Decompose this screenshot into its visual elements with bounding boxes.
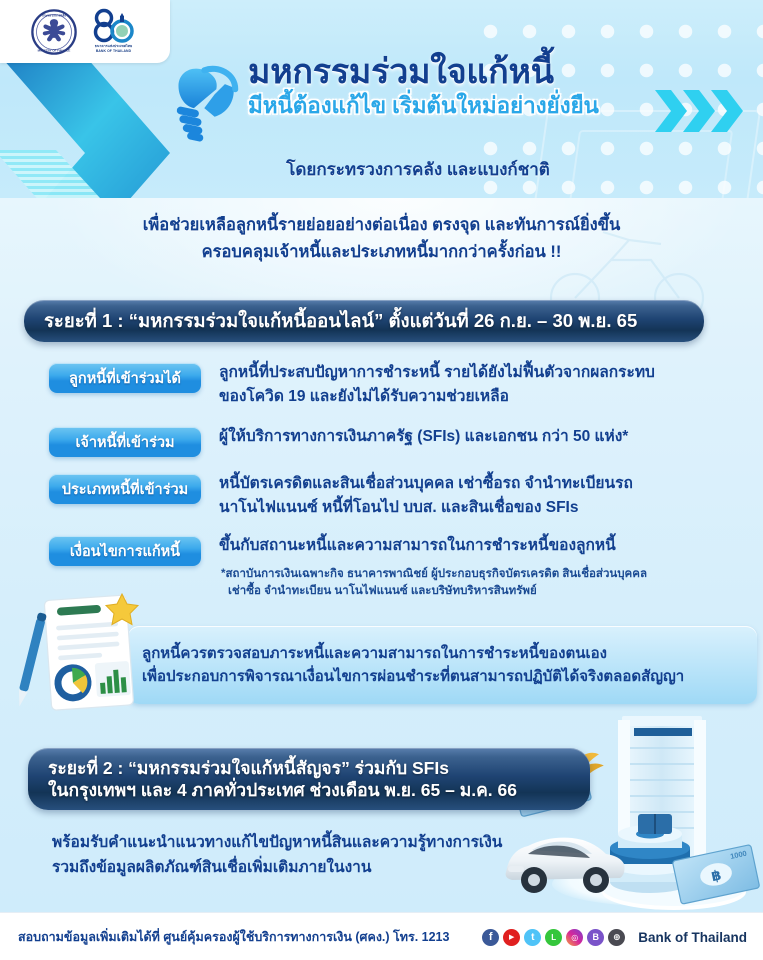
phase2-banner-text: ระยะที่ 2 : “มหกรรมร่วมใจแก้หนี้สัญจร” ร… bbox=[48, 757, 517, 802]
header-banner: กระทรวงการคลัง MINISTRY OF FINANCE ธนาคา… bbox=[0, 0, 763, 198]
organized-by-text: โดยกระทรวงการคลัง และแบงก์ชาติ bbox=[208, 156, 628, 183]
phase1-detail-rows: ลูกหนี้ที่เข้าร่วมได้ ลูกหนี้ที่ประสบปัญ… bbox=[0, 360, 763, 571]
bank-of-thailand-80th-logo: ธนาคารแห่งประเทศไทย BANK OF THAILAND bbox=[88, 7, 140, 57]
youtube-icon[interactable]: ▶ bbox=[503, 929, 520, 946]
advice-line-2: เพื่อประกอบการพิจารณาเงื่อนไขการผ่อนชำระ… bbox=[142, 665, 757, 688]
row-value-line-1: ขึ้นกับสถานะหนี้และความสามารถในการชำระหน… bbox=[219, 534, 745, 558]
svg-text:กระทรวงการคลัง: กระทรวงการคลัง bbox=[42, 12, 66, 17]
page-subtitle: มีหนี้ต้องแก้ไข เริ่มต้นใหม่อย่างยั่งยืน bbox=[248, 93, 599, 120]
row-label-relief-conditions: เงื่อนไขการแก้หนี้ bbox=[49, 536, 201, 566]
footnote-line-2: เช่าซื้อ จำนำทะเบียน นาโนไฟแนนซ์ และบริษ… bbox=[221, 583, 741, 600]
line-icon[interactable]: L bbox=[545, 929, 562, 946]
row-value: ลูกหนี้ที่ประสบปัญหาการชำระหนี้ รายได้ยั… bbox=[219, 360, 745, 408]
row-value: ขึ้นกับสถานะหนี้และความสามารถในการชำระหน… bbox=[219, 533, 745, 558]
header-title-block: มหกรรมร่วมใจแก้หนี้ มีหนี้ต้องแก้ไข เริ่… bbox=[248, 54, 668, 119]
bot-logo-caption-th: ธนาคารแห่งประเทศไทย bbox=[95, 44, 132, 48]
social-links: f ▶ t L ◎ B ⊕ Bank of Thailand bbox=[482, 929, 747, 946]
infographic-page: กระทรวงการคลัง MINISTRY OF FINANCE ธนาคา… bbox=[0, 0, 763, 960]
row-value-line-1: หนี้บัตรเครดิตและสินเชื่อส่วนบุคคล เช่าซ… bbox=[219, 472, 745, 496]
footer-contact-text: สอบถามข้อมูลเพิ่มเติมได้ที่ ศูนย์คุ้มครอ… bbox=[18, 927, 449, 947]
row-label-eligible-debtors: ลูกหนี้ที่เข้าร่วมได้ bbox=[49, 363, 201, 393]
table-row: ลูกหนี้ที่เข้าร่วมได้ ลูกหนี้ที่ประสบปัญ… bbox=[0, 360, 763, 408]
row-label-debt-types: ประเภทหนี้ที่เข้าร่วม bbox=[49, 474, 201, 504]
pill-label: เงื่อนไขการแก้หนี้ bbox=[70, 540, 180, 563]
phase2-banner: ระยะที่ 2 : “มหกรรมร่วมใจแก้หนี้สัญจร” ร… bbox=[28, 748, 590, 810]
phase2-banner-line-2: ในกรุงเทพฯ และ 4 ภาคทั่วประเทศ ช่วงเดือน… bbox=[48, 779, 517, 801]
row-value: หนี้บัตรเครดิตและสินเชื่อส่วนบุคคล เช่าซ… bbox=[219, 471, 745, 519]
svg-text:MINISTRY OF FINANCE: MINISTRY OF FINANCE bbox=[37, 48, 70, 52]
organization-name: Bank of Thailand bbox=[638, 930, 747, 945]
row-value-line-1: ลูกหนี้ที่ประสบปัญหาการชำระหนี้ รายได้ยั… bbox=[219, 361, 745, 385]
handshake-icon bbox=[163, 60, 249, 146]
ministry-of-finance-logo: กระทรวงการคลัง MINISTRY OF FINANCE bbox=[31, 9, 77, 55]
facebook-icon[interactable]: f bbox=[482, 929, 499, 946]
phase1-banner: ระยะที่ 1 : “มหกรรมร่วมใจแก้หนี้ออนไลน์”… bbox=[24, 300, 704, 342]
table-row: เงื่อนไขการแก้หนี้ ขึ้นกับสถานะหนี้และคว… bbox=[0, 533, 763, 566]
phase2-desc-line-1: พร้อมรับคำแนะนำแนวทางแก้ไขปัญหาหนี้สินแล… bbox=[52, 830, 522, 855]
car-coins-banknote-building-icon: ฿ 1000 ฿ 1000 bbox=[498, 714, 763, 912]
website-icon[interactable]: ⊕ bbox=[608, 929, 625, 946]
twitter-icon[interactable]: t bbox=[524, 929, 541, 946]
phase2-desc-line-2: รวมถึงข้อมูลผลิตภัณฑ์สินเชื่อเพิ่มเติมภา… bbox=[52, 855, 522, 880]
intro-line-2: ครอบคลุมเจ้าหนี้และประเภทหนี้มากกว่าครั้… bbox=[0, 239, 763, 266]
pill-label: ลูกหนี้ที่เข้าร่วมได้ bbox=[69, 367, 181, 390]
intro-text: เพื่อช่วยเหลือลูกหนี้รายย่อยอย่างต่อเนื่… bbox=[0, 212, 763, 265]
blockdit-icon[interactable]: B bbox=[587, 929, 604, 946]
advice-line-1: ลูกหนี้ควรตรวจสอบภาระหนี้และความสามารถใน… bbox=[142, 642, 757, 665]
logo-card: กระทรวงการคลัง MINISTRY OF FINANCE ธนาคา… bbox=[0, 0, 170, 63]
footnote: *สถาบันการเงินเฉพาะกิจ ธนาคารพาณิชย์ ผู้… bbox=[221, 566, 741, 601]
footnote-line-1: *สถาบันการเงินเฉพาะกิจ ธนาคารพาณิชย์ ผู้… bbox=[221, 568, 647, 580]
pill-label: เจ้าหนี้ที่เข้าร่วม bbox=[75, 431, 174, 454]
footer: สอบถามข้อมูลเพิ่มเติมได้ที่ ศูนย์คุ้มครอ… bbox=[0, 912, 763, 960]
phase1-banner-text: ระยะที่ 1 : “มหกรรมร่วมใจแก้หนี้ออนไลน์”… bbox=[44, 309, 637, 333]
striped-chevron-decoration bbox=[0, 150, 124, 198]
row-value-line-2: ของโควิด 19 และยังไม่ได้รับความช่วยเหลือ bbox=[219, 385, 745, 409]
row-value-line-1: ผู้ให้บริการทางการเงินภาครัฐ (SFIs) และเ… bbox=[219, 425, 745, 449]
pill-label: ประเภทหนี้ที่เข้าร่วม bbox=[62, 478, 188, 501]
intro-line-1: เพื่อช่วยเหลือลูกหนี้รายย่อยอย่างต่อเนื่… bbox=[0, 212, 763, 239]
instagram-icon[interactable]: ◎ bbox=[566, 929, 583, 946]
table-row: เจ้าหนี้ที่เข้าร่วม ผู้ให้บริการทางการเง… bbox=[0, 424, 763, 457]
bot-logo-caption-en: BANK OF THAILAND bbox=[96, 49, 131, 53]
advice-banner: ลูกหนี้ควรตรวจสอบภาระหนี้และความสามารถใน… bbox=[128, 626, 757, 704]
row-label-participating-creditors: เจ้าหนี้ที่เข้าร่วม bbox=[49, 427, 201, 457]
row-value-line-2: นาโนไฟแนนซ์ หนี้ที่โอนไป บบส. และสินเชื่… bbox=[219, 496, 745, 520]
phase2-banner-line-1: ระยะที่ 2 : “มหกรรมร่วมใจแก้หนี้สัญจร” ร… bbox=[48, 757, 517, 779]
page-title: มหกรรมร่วมใจแก้หนี้ bbox=[248, 54, 668, 91]
phase2-description: พร้อมรับคำแนะนำแนวทางแก้ไขปัญหาหนี้สินแล… bbox=[52, 830, 522, 880]
document-chart-pen-star-icon bbox=[14, 592, 154, 717]
row-value: ผู้ให้บริการทางการเงินภาครัฐ (SFIs) และเ… bbox=[219, 424, 745, 449]
table-row: ประเภทหนี้ที่เข้าร่วม หนี้บัตรเครดิตและส… bbox=[0, 471, 763, 519]
